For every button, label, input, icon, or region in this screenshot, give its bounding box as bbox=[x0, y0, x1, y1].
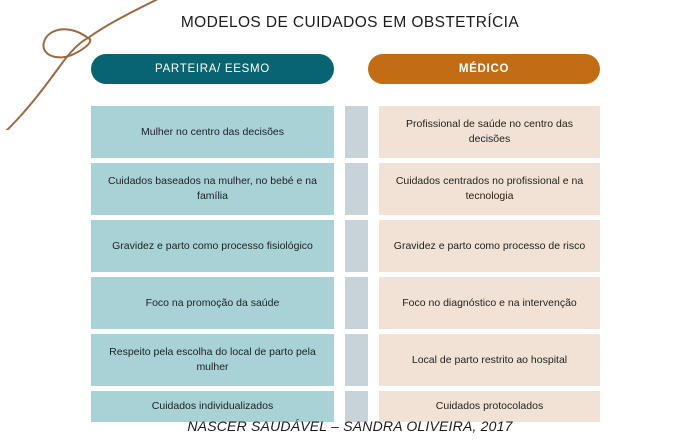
matrix-row: Gravidez e parto como processo fisiológi… bbox=[91, 220, 600, 272]
column-header-parteira[interactable]: PARTEIRA/ EESMO bbox=[91, 54, 334, 84]
column-header-medico[interactable]: MÉDICO bbox=[368, 54, 600, 84]
cell-medico: Profissional de saúde no centro das deci… bbox=[379, 106, 600, 158]
cell-medico: Local de parto restrito ao hospital bbox=[379, 334, 600, 386]
cell-parteira: Foco na promoção da saúde bbox=[91, 277, 334, 329]
cell-parteira: Respeito pela escolha do local de parto … bbox=[91, 334, 334, 386]
source-caption: NASCER SAUDÁVEL – SANDRA OLIVEIRA, 2017 bbox=[0, 418, 700, 434]
cell-parteira: Cuidados baseados na mulher, no bebé e n… bbox=[91, 163, 334, 215]
cell-parteira: Gravidez e parto como processo fisiológi… bbox=[91, 220, 334, 272]
column-headers: PARTEIRA/ EESMO MÉDICO bbox=[91, 54, 600, 84]
cell-medico: Gravidez e parto como processo de risco bbox=[379, 220, 600, 272]
cell-divider bbox=[345, 334, 368, 386]
cell-divider bbox=[345, 106, 368, 158]
cell-medico: Foco no diagnóstico e na intervenção bbox=[379, 277, 600, 329]
matrix-row: Mulher no centro das decisõesProfissiona… bbox=[91, 106, 600, 158]
page-title: MODELOS DE CUIDADOS EM OBSTETRÍCIA bbox=[0, 14, 700, 32]
cell-medico: Cuidados centrados no profissional e na … bbox=[379, 163, 600, 215]
comparison-matrix: Mulher no centro das decisõesProfissiona… bbox=[91, 106, 600, 427]
cell-parteira: Mulher no centro das decisões bbox=[91, 106, 334, 158]
cell-divider bbox=[345, 163, 368, 215]
cell-divider bbox=[345, 277, 368, 329]
cell-divider bbox=[345, 220, 368, 272]
matrix-row: Cuidados baseados na mulher, no bebé e n… bbox=[91, 163, 600, 215]
matrix-row: Foco na promoção da saúdeFoco no diagnós… bbox=[91, 277, 600, 329]
matrix-row: Respeito pela escolha do local de parto … bbox=[91, 334, 600, 386]
